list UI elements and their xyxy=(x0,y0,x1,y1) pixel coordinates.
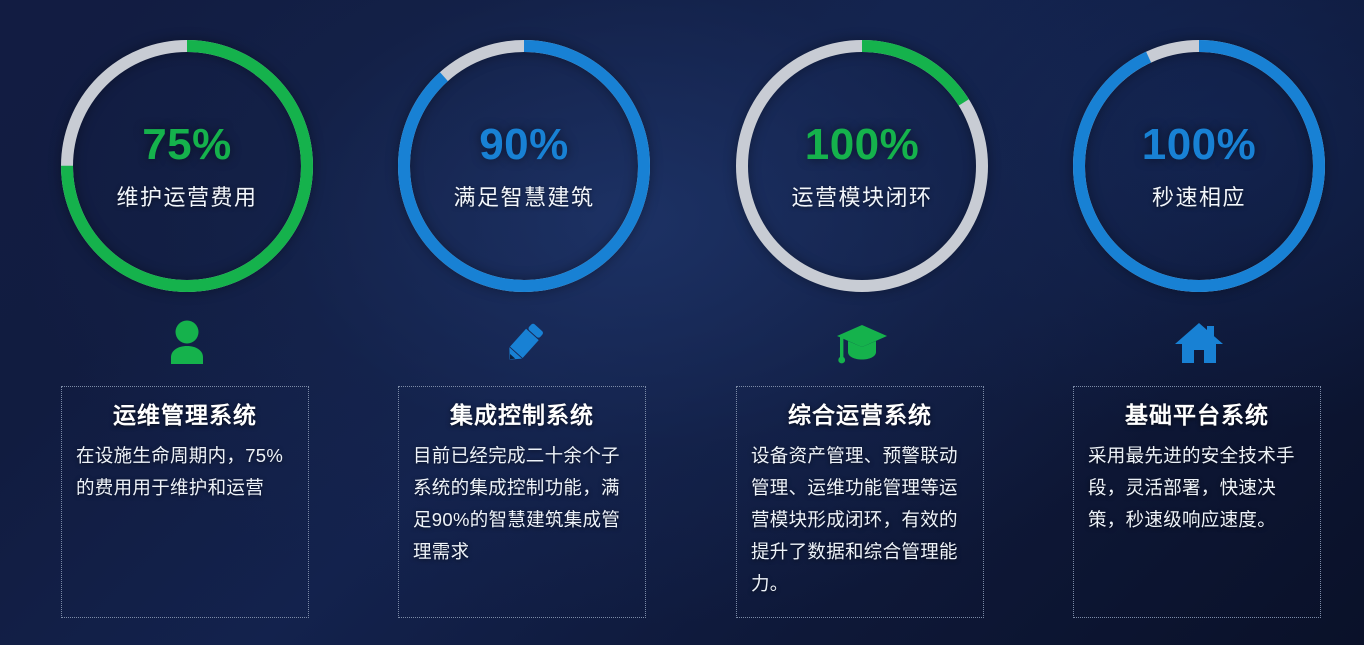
metric-column-2: 90% 满足智慧建筑 集成控制系统 目前已经完成二十余个子系统的集成控制功能，满… xyxy=(374,0,674,645)
metric-column-1: 75% 维护运营费用 运维管理系统 在设施生命周期内，75%的费用用于维护和运营 xyxy=(37,0,337,645)
ring-percent-3: 100% xyxy=(805,123,920,167)
info-card-1-title: 运维管理系统 xyxy=(76,403,294,428)
progress-ring-4: 100% 秒速相应 xyxy=(1073,40,1325,292)
ring-center-1: 75% 维护运营费用 xyxy=(61,40,313,292)
ring-center-2: 90% 满足智慧建筑 xyxy=(398,40,650,292)
ring-label-3: 运营模块闭环 xyxy=(791,187,932,209)
ring-percent-1: 75% xyxy=(142,123,232,167)
info-card-4: 基础平台系统 采用最先进的安全技术手段，灵活部署，快速决策，秒速级响应速度。 xyxy=(1073,386,1321,618)
progress-ring-1: 75% 维护运营费用 xyxy=(61,40,313,292)
ring-percent-4: 100% xyxy=(1142,123,1257,167)
ring-percent-2: 90% xyxy=(479,123,569,167)
info-card-4-title: 基础平台系统 xyxy=(1088,403,1306,428)
info-card-3-body: 设备资产管理、预警联动管理、运维功能管理等运营模块形成闭环，有效的提升了数据和综… xyxy=(751,440,969,599)
ring-label-2: 满足智慧建筑 xyxy=(453,187,594,209)
info-card-2: 集成控制系统 目前已经完成二十余个子系统的集成控制功能，满足90%的智慧建筑集成… xyxy=(398,386,646,618)
info-card-2-title: 集成控制系统 xyxy=(413,403,631,428)
progress-ring-3: 100% 运营模块闭环 xyxy=(736,40,988,292)
ring-label-1: 维护运营费用 xyxy=(116,187,257,209)
graduation-cap-icon xyxy=(835,321,889,365)
info-card-1: 运维管理系统 在设施生命周期内，75%的费用用于维护和运营 xyxy=(61,386,309,618)
icon-slot-3 xyxy=(712,312,1012,374)
ring-center-3: 100% 运营模块闭环 xyxy=(736,40,988,292)
house-icon xyxy=(1174,320,1224,366)
icon-slot-4 xyxy=(1049,312,1349,374)
info-card-2-body: 目前已经完成二十余个子系统的集成控制功能，满足90%的智慧建筑集成管理需求 xyxy=(413,440,631,567)
metric-column-3: 100% 运营模块闭环 综合运营系统 设备资产管理、预警联动管理、运维功能管理等… xyxy=(712,0,1012,645)
progress-ring-2: 90% 满足智慧建筑 xyxy=(398,40,650,292)
user-icon xyxy=(165,319,209,367)
icon-slot-1 xyxy=(37,312,337,374)
metric-column-4: 100% 秒速相应 基础平台系统 采用最先进的安全技术手段，灵活部署，快速决策，… xyxy=(1049,0,1349,645)
pencil-icon xyxy=(501,319,547,367)
info-card-4-body: 采用最先进的安全技术手段，灵活部署，快速决策，秒速级响应速度。 xyxy=(1088,440,1306,535)
info-card-3-title: 综合运营系统 xyxy=(751,403,969,428)
ring-label-4: 秒速相应 xyxy=(1152,187,1246,209)
infographic-stage: 75% 维护运营费用 运维管理系统 在设施生命周期内，75%的费用用于维护和运营… xyxy=(0,0,1364,645)
info-card-3: 综合运营系统 设备资产管理、预警联动管理、运维功能管理等运营模块形成闭环，有效的… xyxy=(736,386,984,618)
ring-center-4: 100% 秒速相应 xyxy=(1073,40,1325,292)
info-card-1-body: 在设施生命周期内，75%的费用用于维护和运营 xyxy=(76,440,294,504)
icon-slot-2 xyxy=(374,312,674,374)
